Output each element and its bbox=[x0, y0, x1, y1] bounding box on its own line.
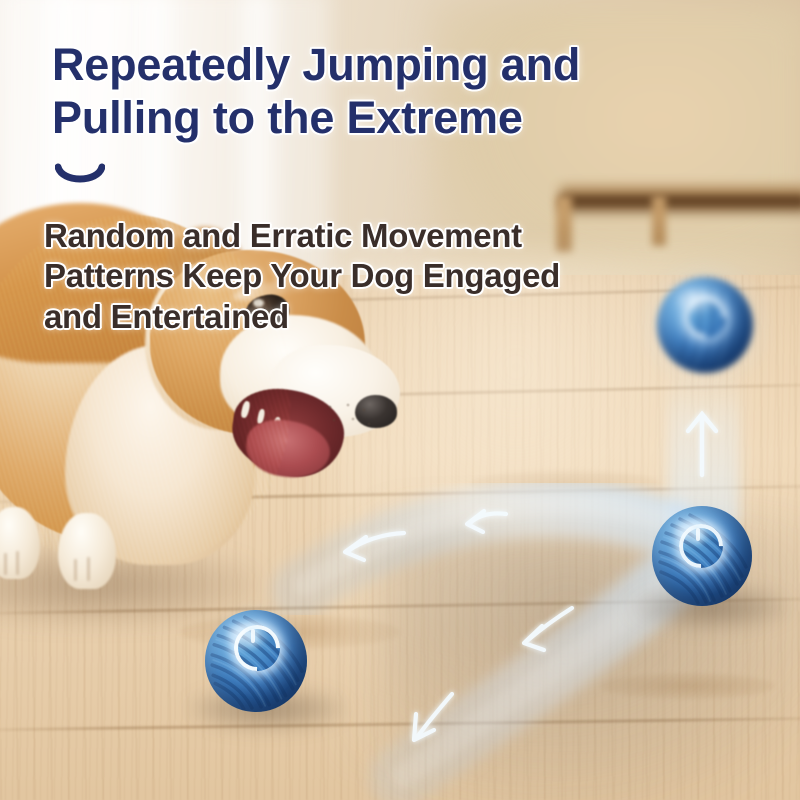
ball-left-rolling bbox=[205, 610, 307, 712]
ball-middle-bouncing bbox=[652, 506, 752, 606]
product-poster: Repeatedly Jumping and Pulling to the Ex… bbox=[0, 0, 800, 800]
power-stem-icon bbox=[251, 629, 255, 643]
trail-lower-curve bbox=[400, 582, 666, 778]
trail-upper-curve bbox=[300, 505, 672, 590]
smile-accent-icon bbox=[55, 163, 105, 187]
power-stem-icon bbox=[696, 528, 700, 541]
page-title: Repeatedly Jumping and Pulling to the Ex… bbox=[52, 38, 692, 144]
page-subtitle: Random and Erratic Movement Patterns Kee… bbox=[44, 216, 684, 337]
